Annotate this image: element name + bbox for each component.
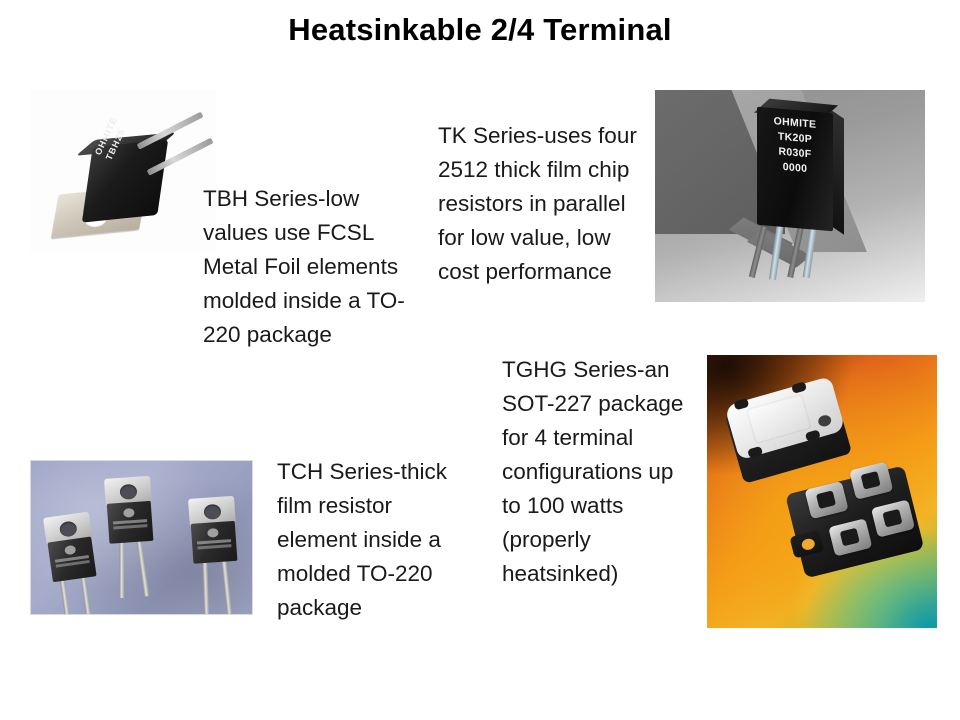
tch-device-1-lead-right	[80, 575, 93, 615]
tch-device-1-lead-left	[60, 578, 73, 615]
tghg-package-upper	[722, 376, 851, 482]
tk-part-marking: OHMITE TK20P R030F 0000	[759, 113, 831, 179]
page-title: Heatsinkable 2/4 Terminal	[0, 12, 960, 48]
tch-device-3-lead-right	[221, 558, 232, 615]
tk-series-caption: TK Series-uses four 2512 thick film chip…	[438, 119, 638, 289]
tbh-series-caption: TBH Series-low values use FCSL Metal Foi…	[203, 182, 408, 352]
tch-series-caption: TCH Series-thick film resistor element i…	[277, 455, 477, 625]
tch-device-2-lead-right	[136, 538, 149, 596]
tbh-lead-1	[137, 112, 204, 150]
tbh-series-photo: OHMITE TBH25	[30, 90, 216, 252]
tghg-series-caption: TGHG Series-an SOT-227 package for 4 ter…	[502, 353, 697, 591]
tghg-package-lower	[784, 460, 925, 579]
tghg-series-photo	[707, 355, 937, 628]
tch-device-2-lead-left	[119, 540, 124, 598]
tk-series-photo: OHMITE TK20P R030F 0000	[655, 90, 925, 302]
tch-series-photo	[30, 460, 253, 615]
tch-device-3-lead-left	[202, 560, 209, 615]
slide-canvas: Heatsinkable 2/4 Terminal OHMITE TBH25 T…	[0, 0, 960, 720]
